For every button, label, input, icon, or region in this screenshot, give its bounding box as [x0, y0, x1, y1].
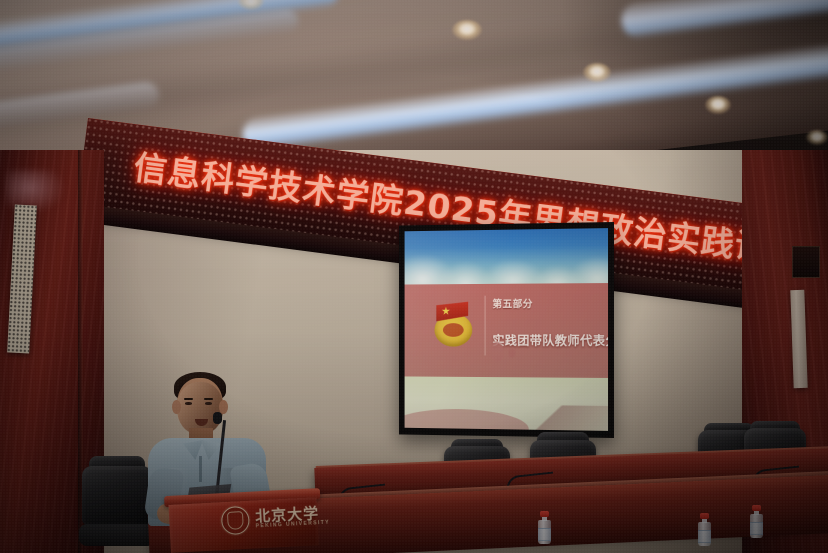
water-bottle-2: [698, 514, 711, 546]
bottle-label: [538, 528, 551, 541]
speaker-ear-left: [172, 400, 181, 414]
podium-microphone-head: [213, 412, 222, 424]
projection-screen: 第五部分 实践团带队教师代表分享: [405, 228, 608, 431]
chair-left-of-podium: [82, 466, 152, 546]
downlight-1: [452, 20, 482, 40]
speaker-shirt-placket: [199, 456, 202, 482]
speaker-eye-right: [205, 402, 212, 405]
speaker-face-shading: [177, 382, 223, 434]
bottle-cap: [700, 513, 709, 519]
bottle-cap: [752, 505, 761, 511]
conference-hall-photo: 信息科学技术学院2025年思想政治实践课程总结展示大会 第五部分 实践团带队教师…: [0, 0, 828, 553]
slide-ground: [405, 377, 608, 431]
slide-wedge: [484, 404, 608, 431]
downlight-2: [583, 63, 611, 82]
downlight-3: [705, 96, 731, 114]
water-bottle-3: [750, 506, 763, 538]
chair-back: [82, 466, 152, 525]
speaker-eye-left: [185, 402, 192, 405]
bottle-label: [698, 530, 711, 543]
slide-divider: [484, 296, 485, 356]
slide-title: 实践团带队教师代表分享: [493, 329, 609, 348]
chair-seat: [79, 524, 155, 546]
bottle-label: [750, 522, 763, 535]
slide-part-label: 第五部分: [493, 295, 533, 310]
bottle-cap: [540, 511, 549, 517]
communist-youth-league-emblem: [432, 302, 474, 347]
podium: 北京大学 PEKING UNIVERSITY: [168, 488, 319, 553]
water-bottle-1: [538, 512, 551, 544]
right-wall-speaker: [792, 246, 820, 278]
downlight-5: [806, 130, 828, 145]
speaker-brow-right: [204, 398, 213, 400]
projection-screen-frame: 第五部分 实践团带队教师代表分享: [399, 222, 614, 438]
speaker-brow-left: [184, 398, 193, 400]
